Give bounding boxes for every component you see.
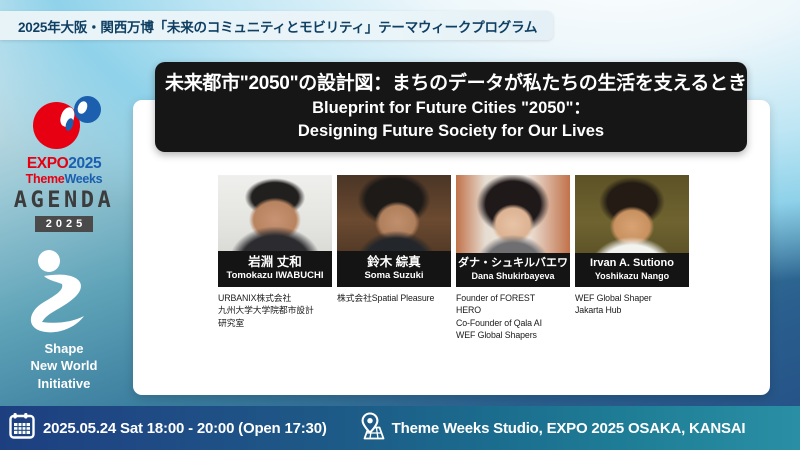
speaker-affiliation: WEF Global Shaper Jakarta Hub <box>575 292 689 317</box>
agenda-wordmark: AGENDA <box>8 189 120 213</box>
program-ribbon: 2025年大阪・関西万博「未来のコミュニティとモビリティ」テーマウィークプログラ… <box>0 11 553 40</box>
speaker-photo: Irvan A. Sutiono Yoshikazu Nango <box>575 175 689 287</box>
ribbon-label: 2025年大阪・関西万博「未来のコミュニティとモビリティ」テーマウィークプログラ… <box>18 16 537 36</box>
speaker-photo: ダナ・シュキルバエワ Dana Shukirbayeva <box>456 175 570 287</box>
speaker-nameplate: ダナ・シュキルバエワ Dana Shukirbayeva <box>456 253 570 287</box>
speaker-card: 鈴木 綜真 Soma Suzuki 株式会社Spatial Pleasure <box>337 175 451 342</box>
title-japanese: 未来都市"2050"の設計図：まちのデータが私たちの生活を支えるとき <box>165 71 737 96</box>
speaker-nameplate: 岩淵 丈和 Tomokazu IWABUCHI <box>218 251 332 287</box>
title-english-line2: Designing Future Society for Our Lives <box>165 121 737 141</box>
session-title-box: 未来都市"2050"の設計図：まちのデータが私たちの生活を支えるとき Bluep… <box>155 62 747 152</box>
agenda-year-badge: 2025 <box>35 216 93 232</box>
speaker-nameplate: 鈴木 綜真 Soma Suzuki <box>337 251 451 287</box>
expo-mark <box>8 96 120 154</box>
event-date: 2025.05.24 Sat 18:00 - 20:00 (Open 17:30… <box>43 420 327 437</box>
speaker-name-jp: 鈴木 綜真 <box>339 255 449 269</box>
theme-weeks-wordmark: ThemeWeeks <box>8 172 120 186</box>
map-pin-icon <box>355 412 385 445</box>
speaker-affiliation: 株式会社Spatial Pleasure <box>337 292 451 304</box>
shape-new-world-logo: Shape New World Initiative <box>8 250 120 392</box>
expo-word: EXPO <box>27 155 68 172</box>
speaker-photo: 鈴木 綜真 Soma Suzuki <box>337 175 451 287</box>
speaker-card: 岩淵 丈和 Tomokazu IWABUCHI URBANIX株式会社 九州大学… <box>218 175 332 342</box>
calendar-icon <box>9 412 35 444</box>
speaker-card: ダナ・シュキルバエワ Dana Shukirbayeva Founder of … <box>456 175 570 342</box>
speaker-name-en: Dana Shukirbayeva <box>458 271 568 282</box>
footer-venue-group: Theme Weeks Studio, EXPO 2025 OSAKA, KAN… <box>355 412 746 445</box>
snw-figure-icon <box>8 250 120 336</box>
footer-date-group: 2025.05.24 Sat 18:00 - 20:00 (Open 17:30… <box>9 412 327 444</box>
snw-label: Shape New World Initiative <box>8 340 120 392</box>
expo-agenda-logo: EXPO2025 ThemeWeeks AGENDA 2025 <box>8 96 120 232</box>
speaker-name-en: Soma Suzuki <box>339 270 449 282</box>
speaker-nameplate: Irvan A. Sutiono Yoshikazu Nango <box>575 253 689 287</box>
speaker-affiliation: URBANIX株式会社 九州大学大学院都市設計 研究室 <box>218 292 332 329</box>
speaker-name-en: Tomokazu IWABUCHI <box>220 270 330 282</box>
speaker-photo: 岩淵 丈和 Tomokazu IWABUCHI <box>218 175 332 287</box>
speaker-affiliation: Founder of FOREST HERO Co-Founder of Qal… <box>456 292 570 342</box>
weeks-word: Weeks <box>64 172 102 186</box>
expo-blue-ball-icon <box>74 96 101 123</box>
expo-wordmark: EXPO2025 <box>8 156 120 172</box>
speaker-card: Irvan A. Sutiono Yoshikazu Nango WEF Glo… <box>575 175 689 342</box>
expo-red-ball-icon <box>33 102 80 149</box>
speaker-name-jp: ダナ・シュキルバエワ <box>458 257 568 270</box>
speaker-list: 岩淵 丈和 Tomokazu IWABUCHI URBANIX株式会社 九州大学… <box>218 175 752 342</box>
speaker-name-en: Yoshikazu Nango <box>577 271 687 282</box>
theme-word: Theme <box>26 172 65 186</box>
event-venue: Theme Weeks Studio, EXPO 2025 OSAKA, KAN… <box>392 420 746 437</box>
title-english-line1: Blueprint for Future Cities "2050"： <box>165 98 737 118</box>
event-poster: 2025年大阪・関西万博「未来のコミュニティとモビリティ」テーマウィークプログラ… <box>0 0 800 450</box>
expo-year: 2025 <box>68 155 101 172</box>
event-footer: 2025.05.24 Sat 18:00 - 20:00 (Open 17:30… <box>0 406 800 450</box>
speaker-name-jp: 岩淵 丈和 <box>220 255 330 269</box>
speaker-name-jp: Irvan A. Sutiono <box>577 257 687 270</box>
